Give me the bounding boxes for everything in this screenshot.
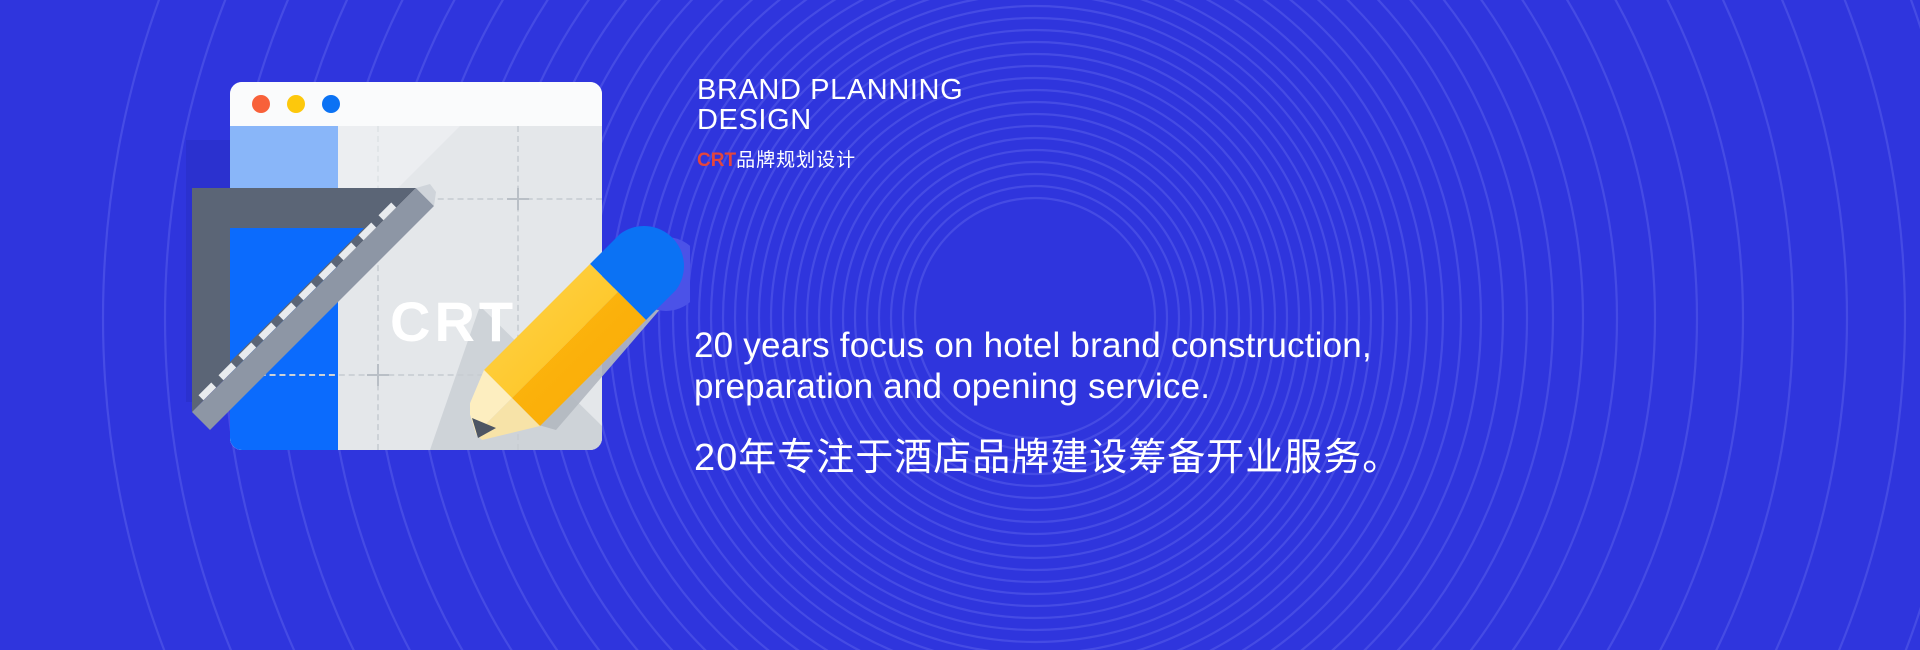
maximize-icon[interactable] [322,95,340,113]
headline-english: BRAND PLANNING DESIGN [697,76,1397,136]
minimize-icon[interactable] [287,95,305,113]
set-square-ruler-icon [186,182,436,432]
brand-design-illustration: CRT [230,82,610,452]
browser-titlebar [230,82,602,126]
tagline-block: 20 years focus on hotel brand constructi… [694,325,1754,481]
headline-chinese-text: 品牌规划设计 [736,150,856,171]
headline-block: BRAND PLANNING DESIGN CRT品牌规划设计 [697,76,1397,172]
tagline-chinese: 20年专注于酒店品牌建设筹备开业服务。 [694,426,1754,481]
promo-banner: CRT [0,0,1920,650]
pencil-icon [470,222,690,452]
tagline-english: 20 years focus on hotel brand constructi… [694,325,1754,408]
headline-brand-crt: CRT [697,150,736,171]
headline-chinese: CRT品牌规划设计 [697,145,1397,172]
close-icon[interactable] [252,95,270,113]
